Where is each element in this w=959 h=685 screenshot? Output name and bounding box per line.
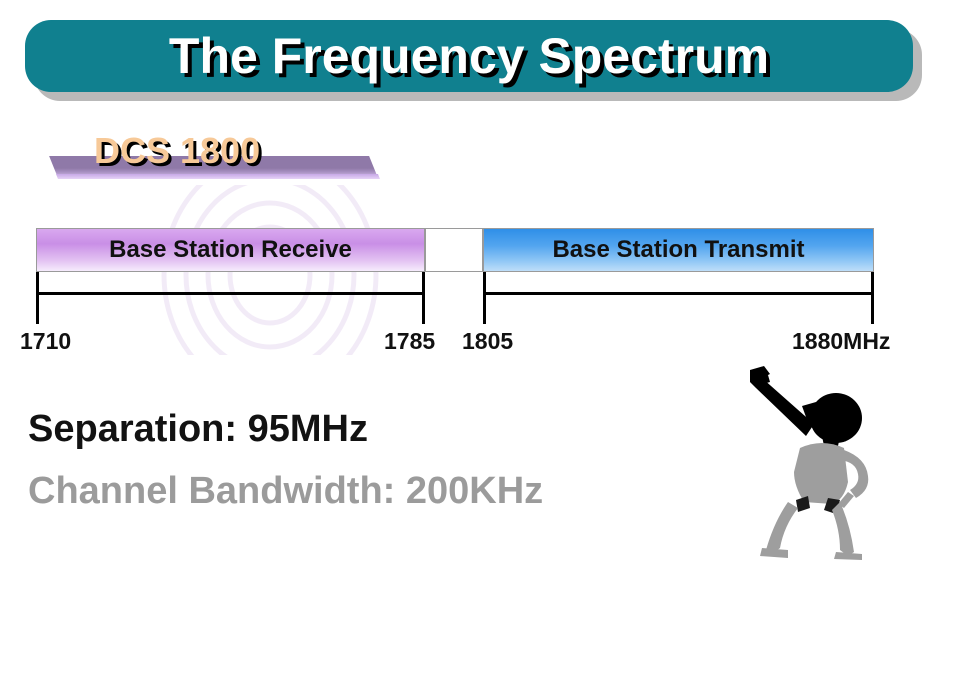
band-label-transmit: Base Station Transmit	[552, 236, 804, 264]
axis-label-1880: 1880MHz	[792, 328, 890, 355]
section-banner: DCS 1800	[58, 130, 398, 190]
axis-line-transmit	[483, 292, 874, 295]
band-guard-gap	[425, 228, 483, 272]
axis-line-receive	[36, 292, 425, 295]
stick-figure-pointing-icon	[744, 362, 884, 560]
axis-tick-1880	[871, 272, 874, 324]
band-base-station-transmit: Base Station Transmit	[483, 228, 874, 272]
bullet-channel-bandwidth: Channel Bandwidth: 200KHz	[28, 470, 543, 513]
axis-tick-1805	[483, 272, 486, 324]
axis-tick-1785	[422, 272, 425, 324]
title-plaque: The Frequency Spectrum	[25, 20, 913, 92]
band-label-receive: Base Station Receive	[109, 236, 352, 264]
axis-label-1805: 1805	[462, 328, 513, 355]
axis-tick-1710	[36, 272, 39, 324]
axis-label-1710: 1710	[20, 328, 71, 355]
frequency-spectrum-diagram: Base Station Receive Base Station Transm…	[36, 228, 874, 358]
section-banner-bar-edge	[56, 174, 380, 179]
page-title: The Frequency Spectrum	[25, 20, 913, 92]
band-base-station-receive: Base Station Receive	[36, 228, 425, 272]
slide-canvas: The Frequency Spectrum DCS 1800 Base Sta…	[0, 0, 959, 685]
axis-label-1785: 1785	[384, 328, 435, 355]
section-banner-label: DCS 1800	[94, 130, 260, 172]
bullet-separation: Separation: 95MHz	[28, 408, 368, 451]
